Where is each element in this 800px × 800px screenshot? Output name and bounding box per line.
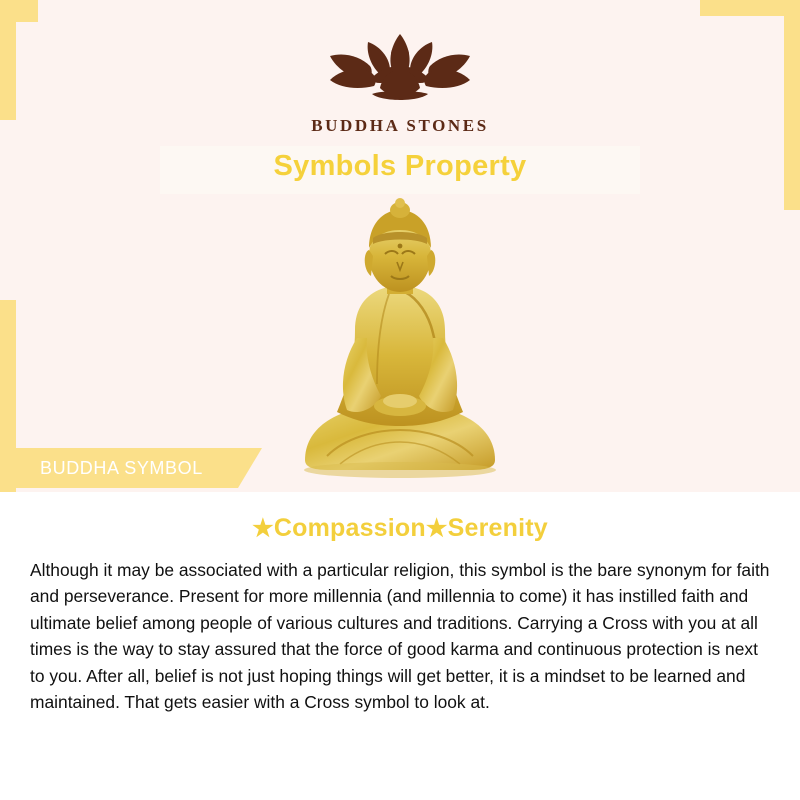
body-panel: ★Compassion★Serenity Although it may be … <box>0 492 800 800</box>
body-paragraph: Although it may be associated with a par… <box>30 557 770 716</box>
symbol-tag: BUDDHA SYMBOL <box>16 448 203 488</box>
poster-page: BUDDHA STONES Symbols Property <box>0 0 800 800</box>
lotus-meditation-icon <box>310 20 490 112</box>
symbol-tag-label: BUDDHA SYMBOL <box>16 458 203 479</box>
hero-illustration <box>0 198 800 488</box>
page-title: Symbols Property <box>0 150 800 183</box>
brand-name: BUDDHA STONES <box>0 116 800 136</box>
brand-logo: BUDDHA STONES <box>0 20 800 136</box>
headline: ★Compassion★Serenity <box>0 514 800 543</box>
star-icon-left: ★ <box>252 515 274 542</box>
seated-buddha-illustration <box>285 198 515 488</box>
star-icon-right: ★ <box>426 515 448 542</box>
headline-word-two: Serenity <box>448 514 548 542</box>
headline-word-one: Compassion <box>274 514 426 542</box>
